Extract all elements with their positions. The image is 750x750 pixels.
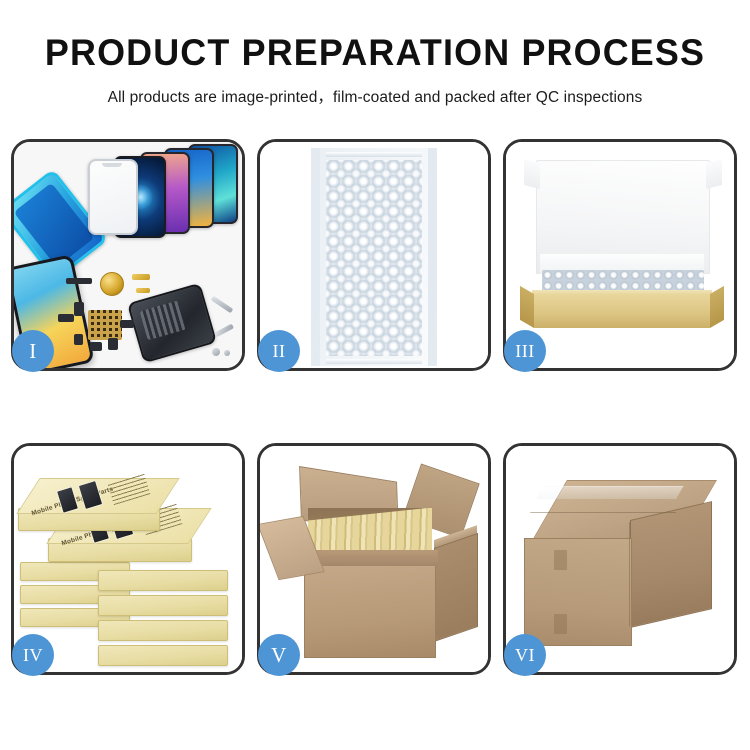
open-carton-scene <box>260 446 488 672</box>
process-step-panel-4: Mobile Phone Spare Parts Mobile Phone Sp… <box>11 443 245 675</box>
small-part-icon <box>90 342 102 351</box>
gold-contact-icon <box>136 288 150 293</box>
phone-chassis-icon <box>127 283 217 364</box>
step-badge-6: VI <box>504 634 546 676</box>
process-step-panel-6: VI <box>503 443 737 675</box>
tweezers-icon <box>214 324 234 338</box>
process-step-panel-5: V <box>257 443 491 675</box>
stacked-box <box>98 570 228 591</box>
speaker-mesh-icon <box>100 272 124 296</box>
stacked-boxes-scene: Mobile Phone Spare Parts Mobile Phone Sp… <box>14 446 242 672</box>
step-badge-3: III <box>504 330 546 372</box>
pouch-seam-bottom <box>326 359 422 364</box>
process-step-panel-2: II <box>257 139 491 371</box>
tempered-glass-icon <box>88 159 138 235</box>
bubble-texture <box>326 160 422 356</box>
step-6-image <box>506 446 734 672</box>
small-part-icon <box>74 334 83 345</box>
stacked-box <box>98 645 228 666</box>
step-3-image <box>506 142 734 368</box>
gold-contact-icon <box>132 274 150 280</box>
carton-front-face <box>304 564 436 658</box>
step-4-image: Mobile Phone Spare Parts Mobile Phone Sp… <box>14 446 242 672</box>
small-part-icon <box>108 338 118 350</box>
small-part-icon <box>58 314 74 322</box>
open-mailer-scene <box>506 142 734 368</box>
bubble-wrap-scene <box>260 142 488 368</box>
page-title: PRODUCT PREPARATION PROCESS <box>11 34 739 73</box>
carton-side-face <box>630 501 712 628</box>
small-part-icon <box>120 320 134 328</box>
screw-icon <box>224 350 230 356</box>
bubble-wrap-pouch-icon <box>311 148 437 366</box>
packing-tape-icon <box>536 486 684 499</box>
phone-parts-scene <box>14 142 242 368</box>
page-header: PRODUCT PREPARATION PROCESS All products… <box>0 0 750 107</box>
carton-tab-icon <box>554 550 567 570</box>
sealed-carton-scene <box>506 446 734 672</box>
step-2-image <box>260 142 488 368</box>
process-step-panel-1: I <box>11 139 245 371</box>
flex-cable-icon <box>66 278 92 284</box>
step-badge-2: II <box>258 330 300 372</box>
connector-grid-icon <box>88 310 122 340</box>
screwdriver-icon <box>211 296 234 314</box>
small-part-icon <box>74 302 84 316</box>
process-steps-grid: I II <box>11 139 739 675</box>
step-1-image <box>14 142 242 368</box>
mailer-box-front-icon <box>532 294 712 328</box>
pouch-seam-top <box>326 152 422 157</box>
carton-seam <box>530 512 677 513</box>
stacked-box <box>98 620 228 641</box>
process-step-panel-3: III <box>503 139 737 371</box>
carton-tab-icon <box>554 614 567 634</box>
carton-side-face <box>434 533 478 642</box>
step-badge-4: IV <box>12 634 54 676</box>
screw-icon <box>212 348 220 356</box>
step-5-image <box>260 446 488 672</box>
step-badge-1: I <box>12 330 54 372</box>
carton-front-face <box>524 538 632 646</box>
page-subtitle: All products are image-printed，film-coat… <box>0 85 750 107</box>
stacked-box <box>98 595 228 616</box>
product-preparation-page: PRODUCT PREPARATION PROCESS All products… <box>0 0 750 750</box>
step-badge-5: V <box>258 634 300 676</box>
carton-corner-seam <box>629 522 630 626</box>
carton-front-flap <box>304 550 438 566</box>
